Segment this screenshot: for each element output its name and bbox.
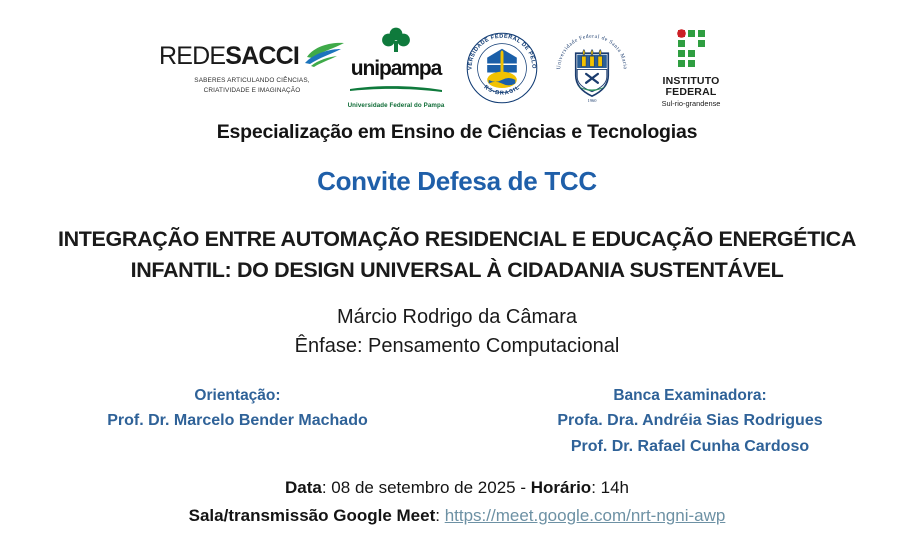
event-type-heading: Convite Defesa de TCC bbox=[0, 166, 914, 197]
author-name: Márcio Rodrigo da Câmara bbox=[0, 303, 914, 332]
google-meet-link[interactable]: https://meet.google.com/nrt-ngni-awp bbox=[445, 506, 726, 525]
ufsm-seal-icon: Universidade Federal de Santa Maria 1960 bbox=[555, 31, 629, 105]
instituto-federal-line3: Sul-rio-grandense bbox=[662, 99, 721, 108]
event-details-footer: Data: 08 de setembro de 2025 - Horário: … bbox=[0, 474, 914, 529]
advising-heading: Orientação: bbox=[80, 384, 395, 408]
committee-column: Banca Examinadora: Profa. Dra. Andréia S… bbox=[495, 384, 885, 460]
author-block: Márcio Rodrigo da Câmara Ênfase: Pensame… bbox=[0, 303, 914, 361]
room-label: Sala/transmissão Google Meet bbox=[189, 506, 436, 525]
rede-sacci-tagline: SABERES ARTICULANDO CIÊNCIAS, CRIATIVIDA… bbox=[190, 76, 315, 95]
institution-logo-bar: REDESACCI SABERES ARTICULANDO CIÊNCIAS, … bbox=[0, 22, 914, 114]
thesis-title-line2: INFANTIL: DO DESIGN UNIVERSAL À CIDADANI… bbox=[0, 255, 914, 286]
thesis-title-line1: INTEGRAÇÃO ENTRE AUTOMAÇÃO RESIDENCIAL E… bbox=[0, 224, 914, 255]
ufpel-seal-logo: UNIVERSIDADE FEDERAL DE PELOTAS RS-BRASI… bbox=[465, 31, 539, 105]
time-value: : 14h bbox=[591, 478, 629, 497]
advising-column: Orientação: Prof. Dr. Marcelo Bender Mac… bbox=[80, 384, 395, 434]
invitation-poster: REDESACCI SABERES ARTICULANDO CIÊNCIAS, … bbox=[0, 0, 914, 548]
unipampa-subtitle: Universidade Federal do Pampa bbox=[348, 102, 445, 109]
ufsm-seal-logo: Universidade Federal de Santa Maria 1960 bbox=[555, 31, 629, 105]
committee-heading: Banca Examinadora: bbox=[495, 384, 885, 408]
rede-sacci-logo: REDESACCI SABERES ARTICULANDO CIÊNCIAS, … bbox=[177, 41, 327, 95]
svg-text:1960: 1960 bbox=[588, 98, 598, 103]
ufpel-seal-icon: UNIVERSIDADE FEDERAL DE PELOTAS RS-BRASI… bbox=[465, 31, 539, 105]
emphasis-line: Ênfase: Pensamento Computacional bbox=[0, 332, 914, 361]
rede-sacci-wordmark: REDESACCI bbox=[159, 41, 345, 72]
rede-sacci-word-sacci: SACCI bbox=[225, 42, 299, 70]
unipampa-wordmark: unipampa bbox=[351, 58, 441, 79]
room-separator: : bbox=[435, 506, 444, 525]
unipampa-tree-icon bbox=[379, 27, 413, 58]
instituto-federal-logo: INSTITUTO FEDERAL Sul-rio-grandense bbox=[645, 28, 737, 108]
meet-line: Sala/transmissão Google Meet: https://me… bbox=[0, 502, 914, 530]
time-label: Horário bbox=[531, 478, 591, 497]
rede-sacci-word-rede: REDE bbox=[159, 42, 225, 70]
people-section: Orientação: Prof. Dr. Marcelo Bender Mac… bbox=[0, 384, 914, 464]
rede-sacci-text: REDESACCI bbox=[159, 44, 299, 69]
committee-member-2: Prof. Dr. Rafael Cunha Cardoso bbox=[495, 434, 885, 460]
unipampa-logo: unipampa Universidade Federal do Pampa bbox=[343, 27, 449, 109]
instituto-federal-line2: FEDERAL bbox=[666, 87, 717, 98]
date-label: Data bbox=[285, 478, 322, 497]
committee-member-1: Profa. Dra. Andréia Sias Rodrigues bbox=[495, 408, 885, 434]
instituto-federal-grid-icon bbox=[666, 28, 716, 76]
rede-sacci-swoosh-icon bbox=[303, 41, 345, 72]
program-name: Especialização em Ensino de Ciências e T… bbox=[0, 121, 914, 144]
advisor-name: Prof. Dr. Marcelo Bender Machado bbox=[80, 408, 395, 434]
unipampa-underline-swoosh-icon bbox=[350, 79, 442, 97]
thesis-title: INTEGRAÇÃO ENTRE AUTOMAÇÃO RESIDENCIAL E… bbox=[0, 224, 914, 285]
date-time-line: Data: 08 de setembro de 2025 - Horário: … bbox=[0, 474, 914, 502]
date-value: : 08 de setembro de 2025 - bbox=[322, 478, 531, 497]
